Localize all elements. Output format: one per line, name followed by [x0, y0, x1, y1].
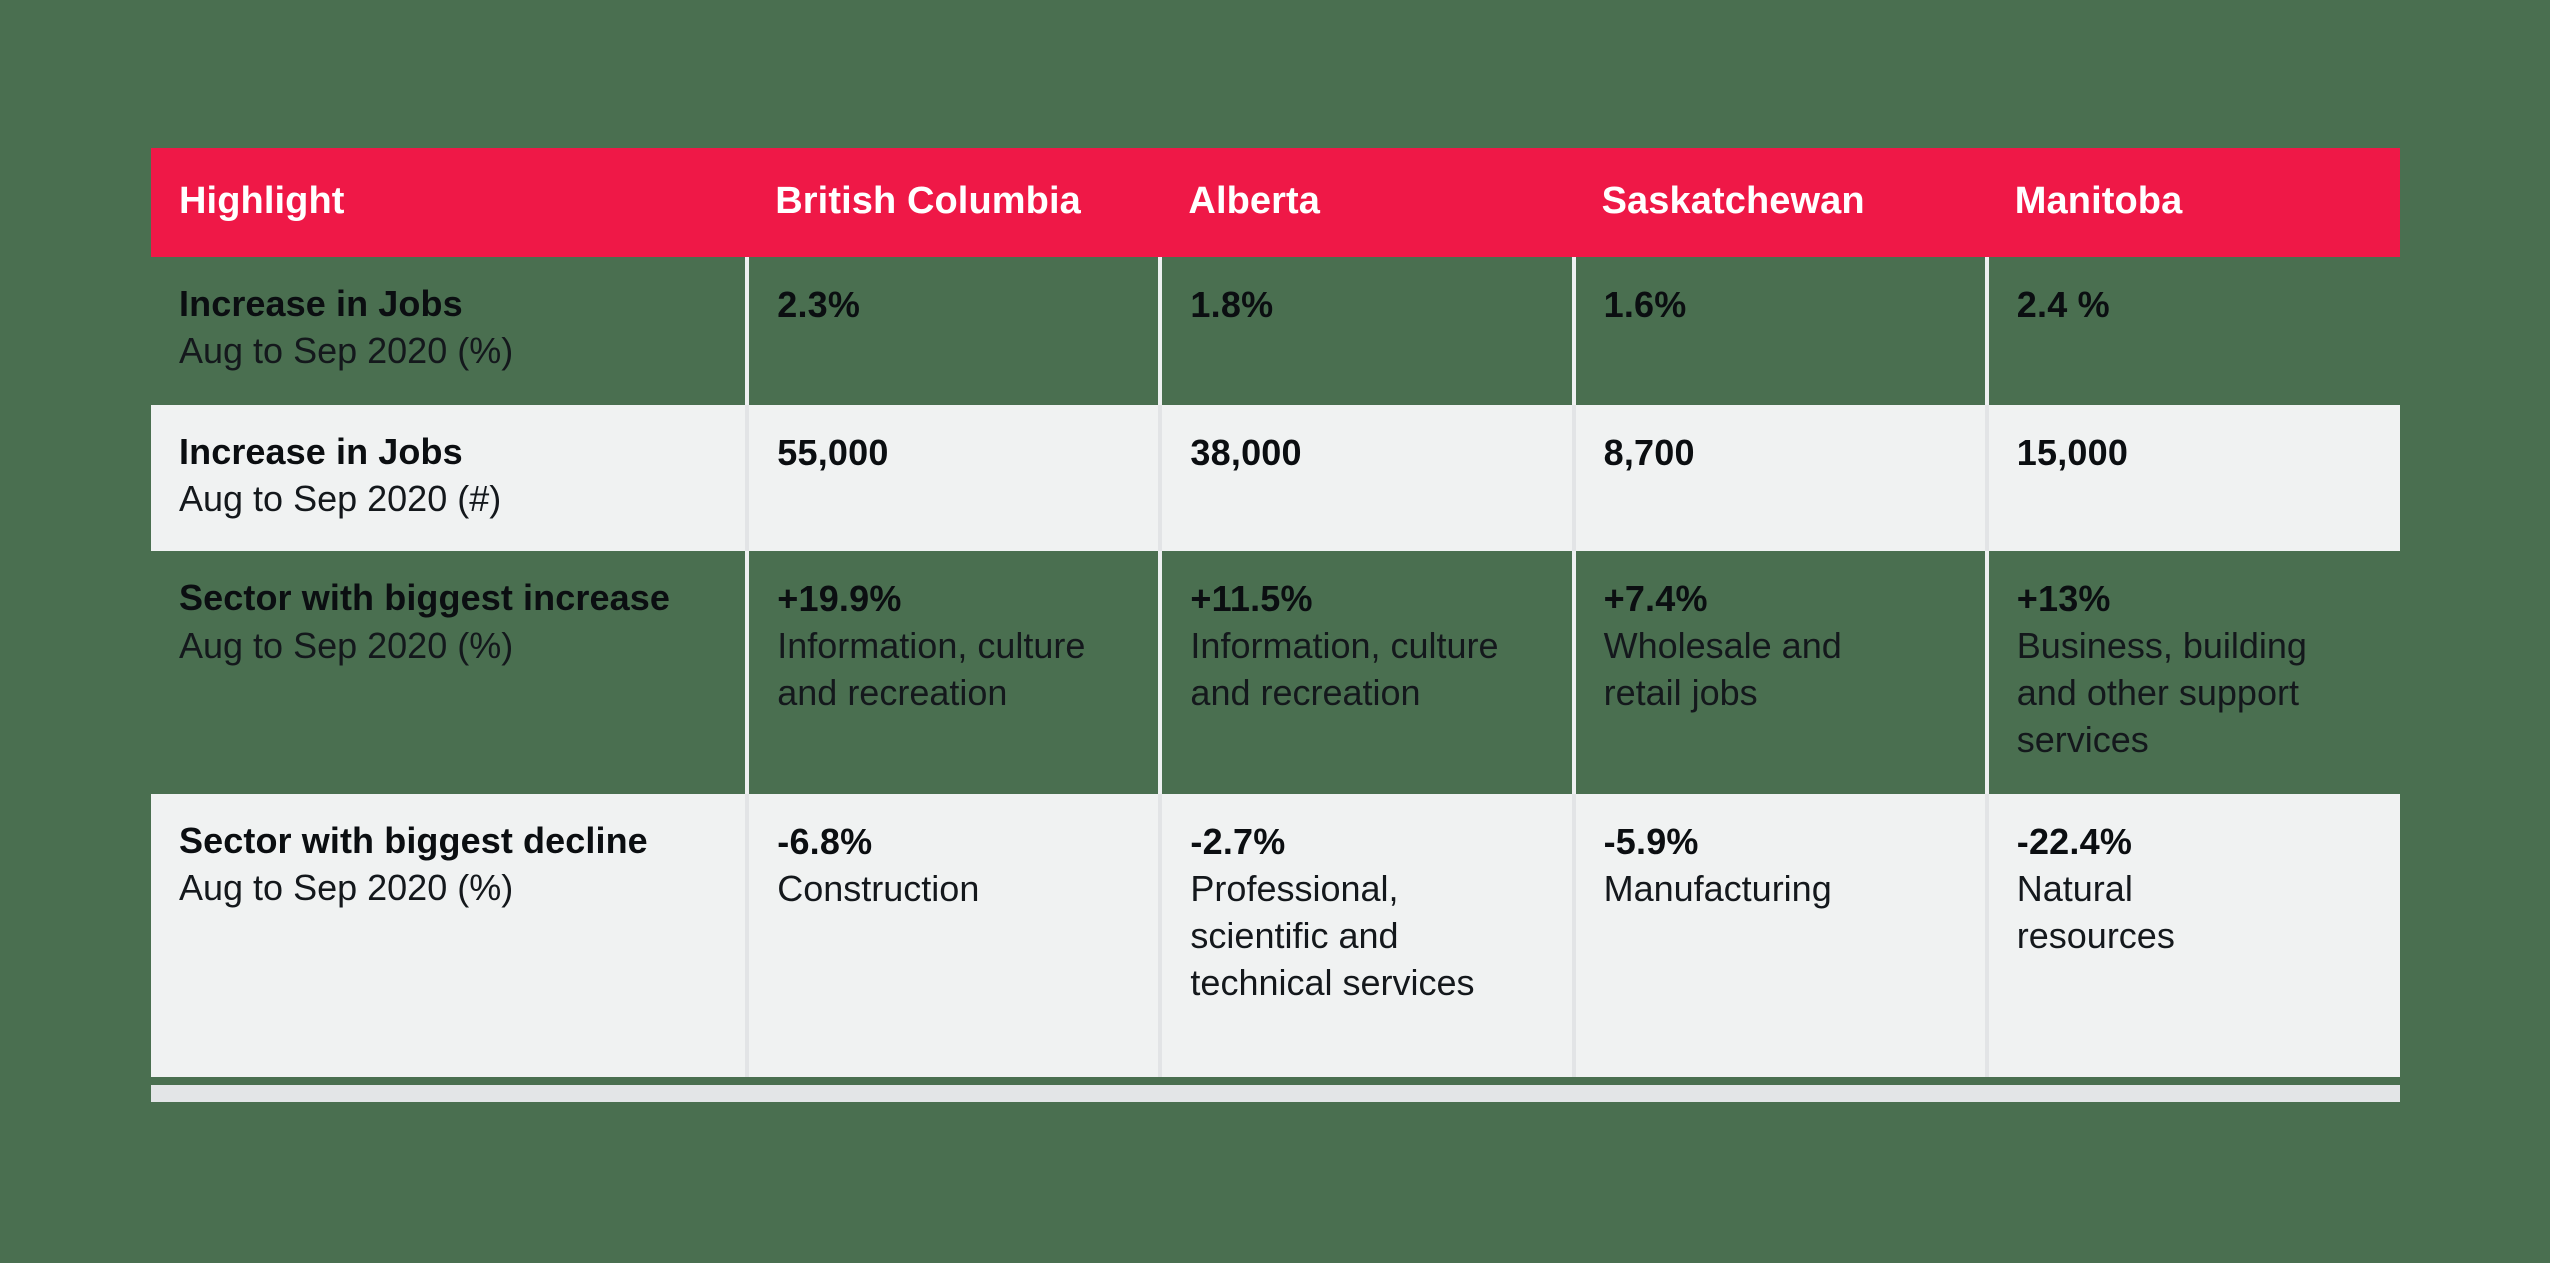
cell-value: 55,000 — [777, 431, 1128, 474]
row-label-subtitle: Aug to Sep 2020 (%) — [179, 623, 715, 668]
row-label-cell: Sector with biggest decline Aug to Sep 2… — [151, 794, 747, 1077]
data-cell-manitoba: 15,000 — [1987, 405, 2400, 551]
data-cell-british-columbia: 55,000 — [747, 405, 1160, 551]
table-header: Highlight British Columbia Alberta Saska… — [151, 148, 2400, 257]
row-label-subtitle: Aug to Sep 2020 (%) — [179, 865, 715, 910]
cell-detail: Information, culture and recreation — [1190, 623, 1541, 717]
table-row: Increase in Jobs Aug to Sep 2020 (%) 2.3… — [151, 257, 2400, 405]
cell-value: -6.8% — [777, 820, 1128, 863]
cell-value: +7.4% — [1604, 577, 1955, 620]
row-label-title: Increase in Jobs — [179, 431, 715, 473]
data-cell-british-columbia: 2.3% — [747, 257, 1160, 405]
data-cell-british-columbia: +19.9% Information, culture and recreati… — [747, 551, 1160, 794]
data-cell-saskatchewan: 1.6% — [1574, 257, 1987, 405]
row-label-title: Increase in Jobs — [179, 283, 715, 325]
table-row: Increase in Jobs Aug to Sep 2020 (#) 55,… — [151, 405, 2400, 551]
column-header-highlight: Highlight — [151, 148, 747, 257]
cell-value: 1.8% — [1190, 283, 1541, 326]
row-label-title: Sector with biggest increase — [179, 577, 715, 619]
header-row: Highlight British Columbia Alberta Saska… — [151, 148, 2400, 257]
cell-value: -2.7% — [1190, 820, 1541, 863]
column-header-manitoba: Manitoba — [1987, 148, 2400, 257]
highlights-table-container: Highlight British Columbia Alberta Saska… — [151, 148, 2400, 1077]
row-label-title: Sector with biggest decline — [179, 820, 715, 862]
data-cell-manitoba: -22.4% Natural resources — [1987, 794, 2400, 1077]
cell-detail: Information, culture and recreation — [777, 623, 1128, 717]
cell-detail: Business, building and other support ser… — [2017, 623, 2370, 763]
cell-detail: Manufacturing — [1604, 866, 1955, 913]
cell-value: 2.3% — [777, 283, 1128, 326]
table-body: Increase in Jobs Aug to Sep 2020 (%) 2.3… — [151, 257, 2400, 1077]
highlights-table: Highlight British Columbia Alberta Saska… — [151, 148, 2400, 1077]
column-header-alberta: Alberta — [1160, 148, 1573, 257]
column-header-saskatchewan: Saskatchewan — [1574, 148, 1987, 257]
row-label-cell: Increase in Jobs Aug to Sep 2020 (%) — [151, 257, 747, 405]
page-root: Highlight British Columbia Alberta Saska… — [0, 0, 2550, 1263]
cell-value: 1.6% — [1604, 283, 1955, 326]
cell-value: +19.9% — [777, 577, 1128, 620]
data-cell-saskatchewan: +7.4% Wholesale and retail jobs — [1574, 551, 1987, 794]
table-row: Sector with biggest decline Aug to Sep 2… — [151, 794, 2400, 1077]
cell-detail: Construction — [777, 866, 1128, 913]
cell-value: 8,700 — [1604, 431, 1955, 474]
cell-value: 15,000 — [2017, 431, 2370, 474]
row-label-subtitle: Aug to Sep 2020 (#) — [179, 476, 715, 521]
data-cell-alberta: -2.7% Professional, scientific and techn… — [1160, 794, 1573, 1077]
data-cell-british-columbia: -6.8% Construction — [747, 794, 1160, 1077]
cell-value: 38,000 — [1190, 431, 1541, 474]
column-header-british-columbia: British Columbia — [747, 148, 1160, 257]
cell-detail: Wholesale and retail jobs — [1604, 623, 1955, 717]
cell-value: -22.4% — [2017, 820, 2370, 863]
cell-value: +11.5% — [1190, 577, 1541, 620]
data-cell-alberta: 38,000 — [1160, 405, 1573, 551]
data-cell-manitoba: +13% Business, building and other suppor… — [1987, 551, 2400, 794]
cell-value: 2.4 % — [2017, 283, 2370, 326]
table-bottom-edge — [151, 1085, 2400, 1102]
table-row: Sector with biggest increase Aug to Sep … — [151, 551, 2400, 794]
row-label-cell: Sector with biggest increase Aug to Sep … — [151, 551, 747, 794]
data-cell-saskatchewan: -5.9% Manufacturing — [1574, 794, 1987, 1077]
data-cell-saskatchewan: 8,700 — [1574, 405, 1987, 551]
data-cell-manitoba: 2.4 % — [1987, 257, 2400, 405]
cell-detail: Natural resources — [2017, 866, 2370, 960]
data-cell-alberta: 1.8% — [1160, 257, 1573, 405]
row-label-subtitle: Aug to Sep 2020 (%) — [179, 328, 715, 373]
cell-value: +13% — [2017, 577, 2370, 620]
data-cell-alberta: +11.5% Information, culture and recreati… — [1160, 551, 1573, 794]
row-label-cell: Increase in Jobs Aug to Sep 2020 (#) — [151, 405, 747, 551]
cell-detail: Professional, scientific and technical s… — [1190, 866, 1541, 1006]
cell-value: -5.9% — [1604, 820, 1955, 863]
